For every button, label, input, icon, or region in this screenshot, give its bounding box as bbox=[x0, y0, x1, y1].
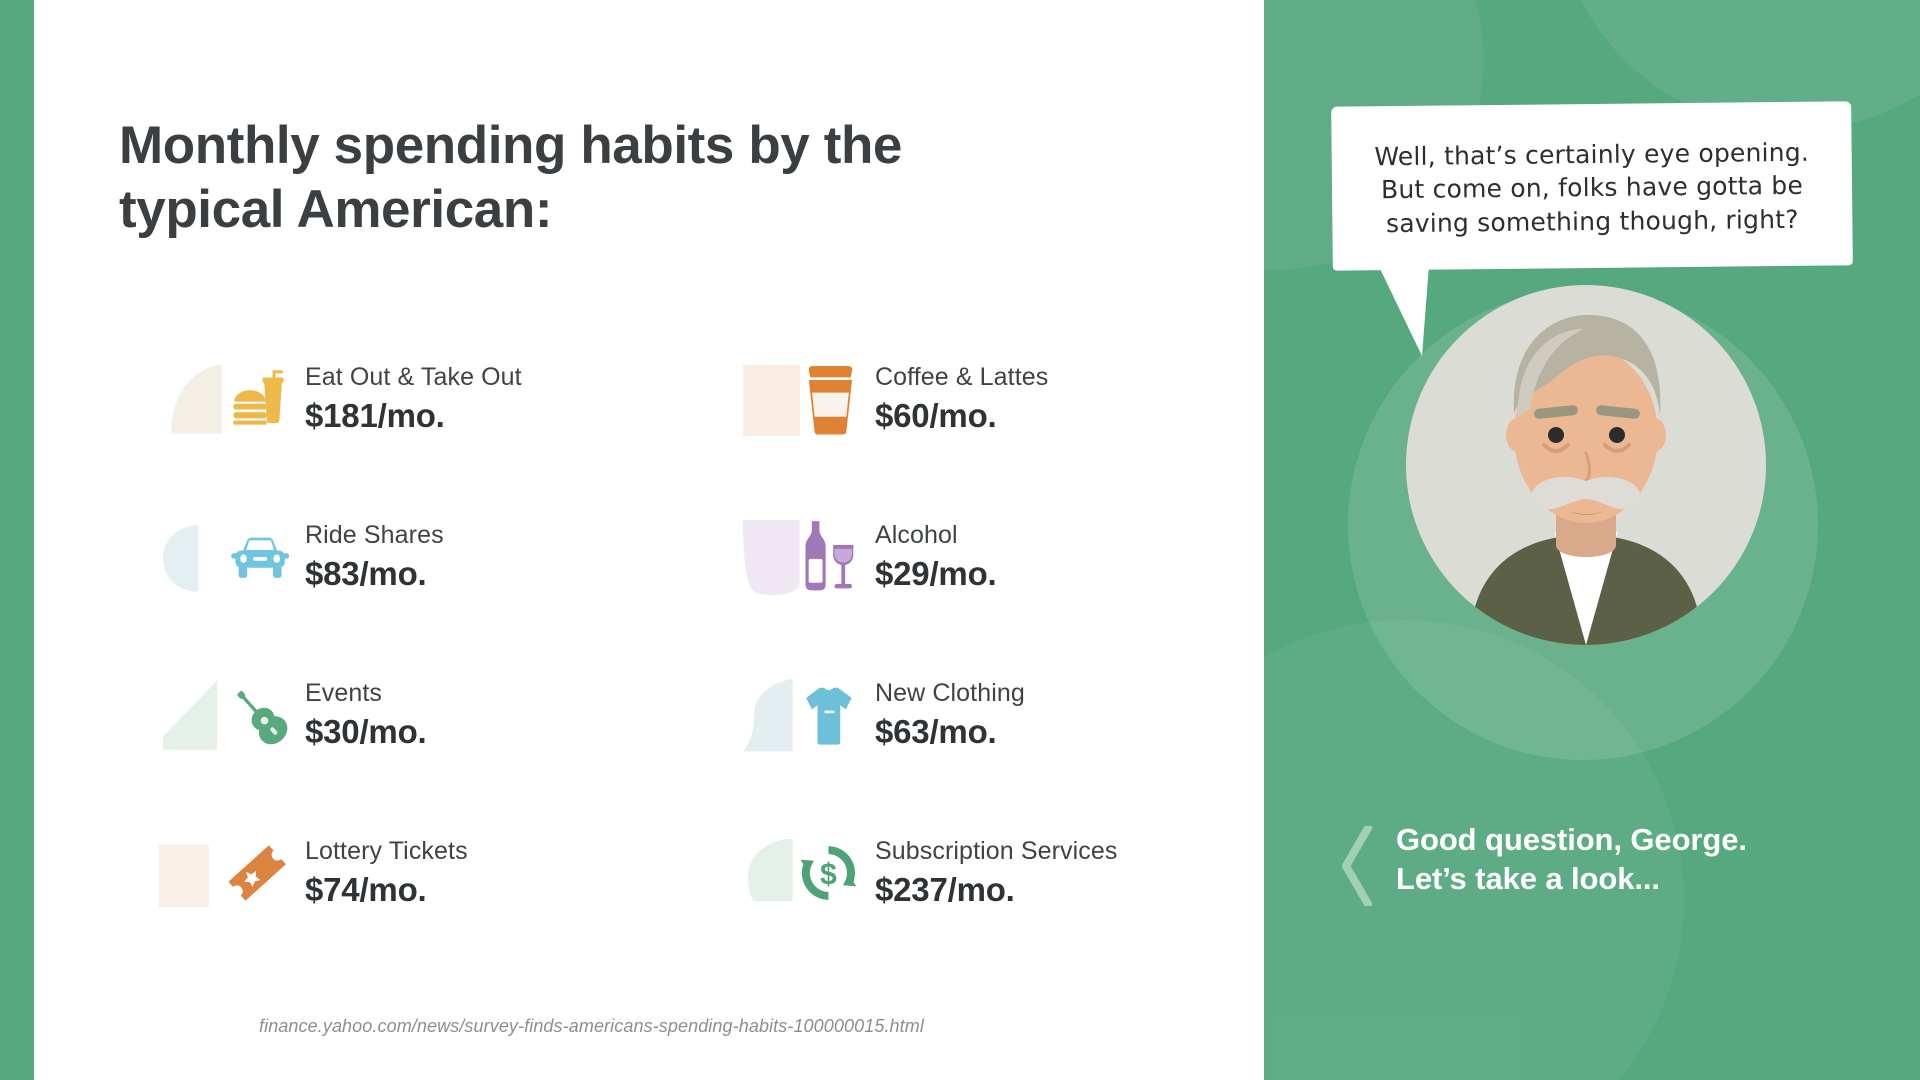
item-label: Alcohol bbox=[875, 521, 997, 550]
commentary-panel: Well, that’s certainly eye opening. But … bbox=[1264, 0, 1920, 1080]
wine-bottle-icon bbox=[729, 491, 861, 623]
item-amount: $83/mo. bbox=[305, 555, 444, 593]
item-label: New Clothing bbox=[875, 679, 1025, 708]
item-amount: $60/mo. bbox=[875, 397, 1048, 435]
spend-item-ride-shares: Ride Shares $83/mo. bbox=[159, 478, 729, 636]
host-response-line: Let’s take a look... bbox=[1396, 859, 1747, 898]
item-amount: $63/mo. bbox=[875, 713, 1025, 751]
speech-bubble-line: Well, that’s certainly eye opening. bbox=[1358, 136, 1826, 174]
spend-item-text: New Clothing $63/mo. bbox=[875, 679, 1025, 751]
burger-drink-icon bbox=[159, 333, 291, 465]
left-accent-strip bbox=[0, 0, 34, 1080]
item-amount: $237/mo. bbox=[875, 871, 1117, 909]
george-avatar bbox=[1406, 285, 1766, 645]
guitar-icon bbox=[159, 649, 291, 781]
item-label: Subscription Services bbox=[875, 837, 1117, 866]
spend-item-clothing: New Clothing $63/mo. bbox=[729, 636, 1249, 794]
speech-bubble: Well, that’s certainly eye opening. But … bbox=[1331, 101, 1853, 270]
item-amount: $29/mo. bbox=[875, 555, 997, 593]
spend-item-alcohol: Alcohol $29/mo. bbox=[729, 478, 1249, 636]
speech-bubble-line: saving something though, right? bbox=[1358, 202, 1826, 240]
spend-item-events: Events $30/mo. bbox=[159, 636, 729, 794]
item-amount: $74/mo. bbox=[305, 871, 468, 909]
svg-text:$: $ bbox=[820, 858, 837, 891]
host-response-line: Good question, George. bbox=[1396, 820, 1747, 859]
recurring-dollar-icon: $ bbox=[729, 807, 861, 939]
car-icon bbox=[159, 491, 291, 623]
source-citation: finance.yahoo.com/news/survey-finds-amer… bbox=[259, 1016, 924, 1037]
spending-items-grid: Eat Out & Take Out $181/mo. bbox=[159, 320, 1249, 930]
spend-item-text: Eat Out & Take Out $181/mo. bbox=[305, 363, 522, 435]
item-amount: $30/mo. bbox=[305, 713, 427, 751]
host-response: Good question, George. Let’s take a look… bbox=[1338, 820, 1898, 906]
spend-item-eat-out: Eat Out & Take Out $181/mo. bbox=[159, 320, 729, 478]
spend-item-subscriptions: $ Subscription Services $237/mo. bbox=[729, 794, 1249, 952]
spend-item-lottery: Lottery Tickets $74/mo. bbox=[159, 794, 729, 952]
item-amount: $181/mo. bbox=[305, 397, 522, 435]
spend-item-text: Ride Shares $83/mo. bbox=[305, 521, 444, 593]
item-label: Lottery Tickets bbox=[305, 837, 468, 866]
item-label: Coffee & Lattes bbox=[875, 363, 1048, 392]
spend-item-text: Lottery Tickets $74/mo. bbox=[305, 837, 468, 909]
chevron-left-icon bbox=[1338, 826, 1372, 906]
item-label: Events bbox=[305, 679, 427, 708]
speech-bubble-tail bbox=[1372, 252, 1442, 362]
item-label: Eat Out & Take Out bbox=[305, 363, 522, 392]
spend-item-text: Subscription Services $237/mo. bbox=[875, 837, 1117, 909]
coffee-cup-icon bbox=[729, 333, 861, 465]
ticket-icon bbox=[159, 807, 291, 939]
item-label: Ride Shares bbox=[305, 521, 444, 550]
spending-panel: Monthly spending habits by the typical A… bbox=[34, 0, 1264, 1080]
tshirt-icon bbox=[729, 649, 861, 781]
spend-item-coffee: Coffee & Lattes $60/mo. bbox=[729, 320, 1249, 478]
speech-bubble-line: But come on, folks have gotta be bbox=[1358, 169, 1826, 207]
spend-item-text: Alcohol $29/mo. bbox=[875, 521, 997, 593]
spend-item-text: Events $30/mo. bbox=[305, 679, 427, 751]
infographic-page: Monthly spending habits by the typical A… bbox=[0, 0, 1920, 1080]
spend-item-text: Coffee & Lattes $60/mo. bbox=[875, 363, 1048, 435]
page-title: Monthly spending habits by the typical A… bbox=[119, 114, 1039, 242]
